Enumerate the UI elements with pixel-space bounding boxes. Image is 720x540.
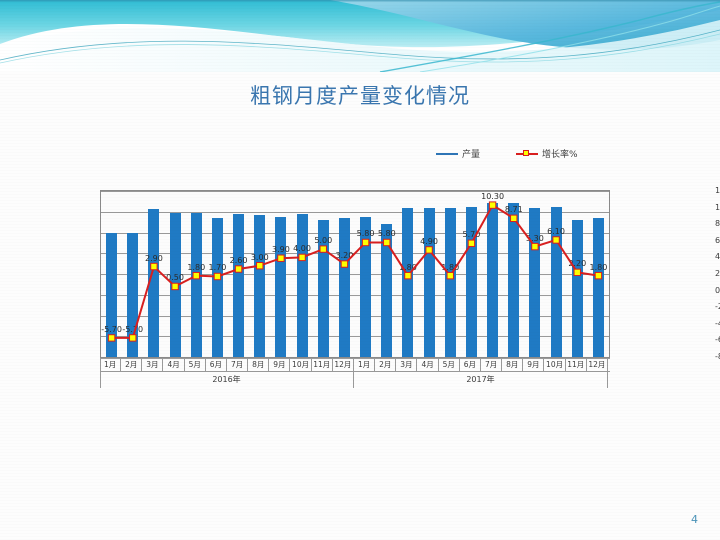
line-marker: [257, 263, 263, 269]
wave-banner-graphic: [0, 0, 720, 72]
y-axis-right-tick-label: 6.00: [715, 236, 720, 245]
y-axis-right-tick-label: 12.00: [715, 186, 720, 195]
chart-plot-area: -5.70-5.702.900.501.801.702.603.003.904.…: [100, 190, 610, 358]
y-axis-right-tick-label: -6.00: [715, 335, 720, 344]
line-marker: [278, 255, 284, 261]
line-marker: [235, 266, 241, 272]
line-marker: [468, 240, 474, 246]
line-marker: [214, 273, 220, 279]
x-axis-tick-label: 9月: [269, 358, 290, 371]
x-axis-tick-label: 6月: [206, 358, 227, 371]
line-marker: [489, 202, 495, 208]
slide-canvas: 粗钢月度产量变化情况 产量 增长率% -5.70-5.702.900.501.8…: [0, 0, 720, 540]
x-axis-tick-label: 6月: [460, 358, 481, 371]
x-axis-group-label: 2017年: [354, 371, 608, 388]
x-axis-tick-label: 4月: [164, 358, 185, 371]
decorative-wave-banner: [0, 0, 720, 72]
x-axis-tick-label: 3月: [142, 358, 163, 371]
x-axis-tick-label: 11月: [566, 358, 587, 371]
x-axis-tick-label: 5月: [439, 358, 460, 371]
line-marker: [341, 261, 347, 267]
legend-item-produce: 产量: [436, 147, 480, 160]
y-axis-right-tick-label: -8.00: [715, 352, 720, 361]
x-axis-tick-label: 1月: [100, 358, 121, 371]
x-axis-tick-label: 7月: [481, 358, 502, 371]
line-marker: [574, 269, 580, 275]
line-marker: [405, 272, 411, 278]
x-axis-categories: 1月2月3月4月5月6月7月8月9月10月11月12月1月2月3月4月5月6月7…: [100, 358, 610, 390]
x-axis-tick-label: 12月: [587, 358, 608, 371]
x-axis-tick-label: 4月: [418, 358, 439, 371]
y-axis-right-tick-label: 10.00: [715, 203, 720, 212]
line-marker: [193, 272, 199, 278]
line-marker: [320, 246, 326, 252]
line-marker: [130, 335, 136, 341]
line-marker: [511, 215, 517, 221]
y-axis-right-tick-label: 4.00: [715, 252, 720, 261]
x-axis-group-label: 2016年: [100, 371, 354, 388]
x-axis-tick-label: 5月: [185, 358, 206, 371]
line-swatch-icon: [436, 153, 458, 155]
line-square-swatch-icon: [516, 150, 538, 158]
x-axis-tick-label: 8月: [502, 358, 523, 371]
x-axis-tick-label: 2月: [121, 358, 142, 371]
page-title: 粗钢月度产量变化情况: [0, 80, 720, 110]
x-axis-tick-label: 10月: [291, 358, 312, 371]
y-axis-right-tick-label: 0.00: [715, 286, 720, 295]
line-marker: [151, 263, 157, 269]
y-axis-right-tick-label: -2.00: [715, 302, 720, 311]
line-marker: [108, 335, 114, 341]
line-marker: [532, 243, 538, 249]
page-number: 4: [691, 513, 698, 526]
line-marker: [384, 239, 390, 245]
x-axis-tick-label: 7月: [227, 358, 248, 371]
growth-rate-line-layer: [101, 191, 609, 357]
y-axis-right-tick-label: -4.00: [715, 319, 720, 328]
chart-legend: 产量 增长率%: [436, 147, 578, 160]
y-axis-right-tick-label: 8.00: [715, 219, 720, 228]
x-axis-tick-label: 11月: [312, 358, 333, 371]
x-axis-tick-label: 3月: [396, 358, 417, 371]
x-axis-tick-label: 10月: [545, 358, 566, 371]
line-marker: [447, 272, 453, 278]
legend-label-growth-rate: 增长率%: [542, 147, 578, 160]
legend-label-produce: 产量: [462, 147, 480, 160]
x-axis-tick-label: 2月: [375, 358, 396, 371]
x-axis-tick-label: 12月: [333, 358, 354, 371]
x-axis-tick-label: 1月: [354, 358, 375, 371]
x-axis-tick-label: 8月: [248, 358, 269, 371]
line-marker: [553, 237, 559, 243]
growth-rate-line: [112, 205, 599, 338]
line-marker: [172, 283, 178, 289]
x-axis-tick-label: 9月: [523, 358, 544, 371]
line-marker: [362, 239, 368, 245]
line-marker: [595, 272, 601, 278]
line-marker: [426, 247, 432, 253]
line-marker: [299, 254, 305, 260]
y-axis-right-tick-label: 2.00: [715, 269, 720, 278]
legend-item-growth-rate: 增长率%: [516, 147, 578, 160]
